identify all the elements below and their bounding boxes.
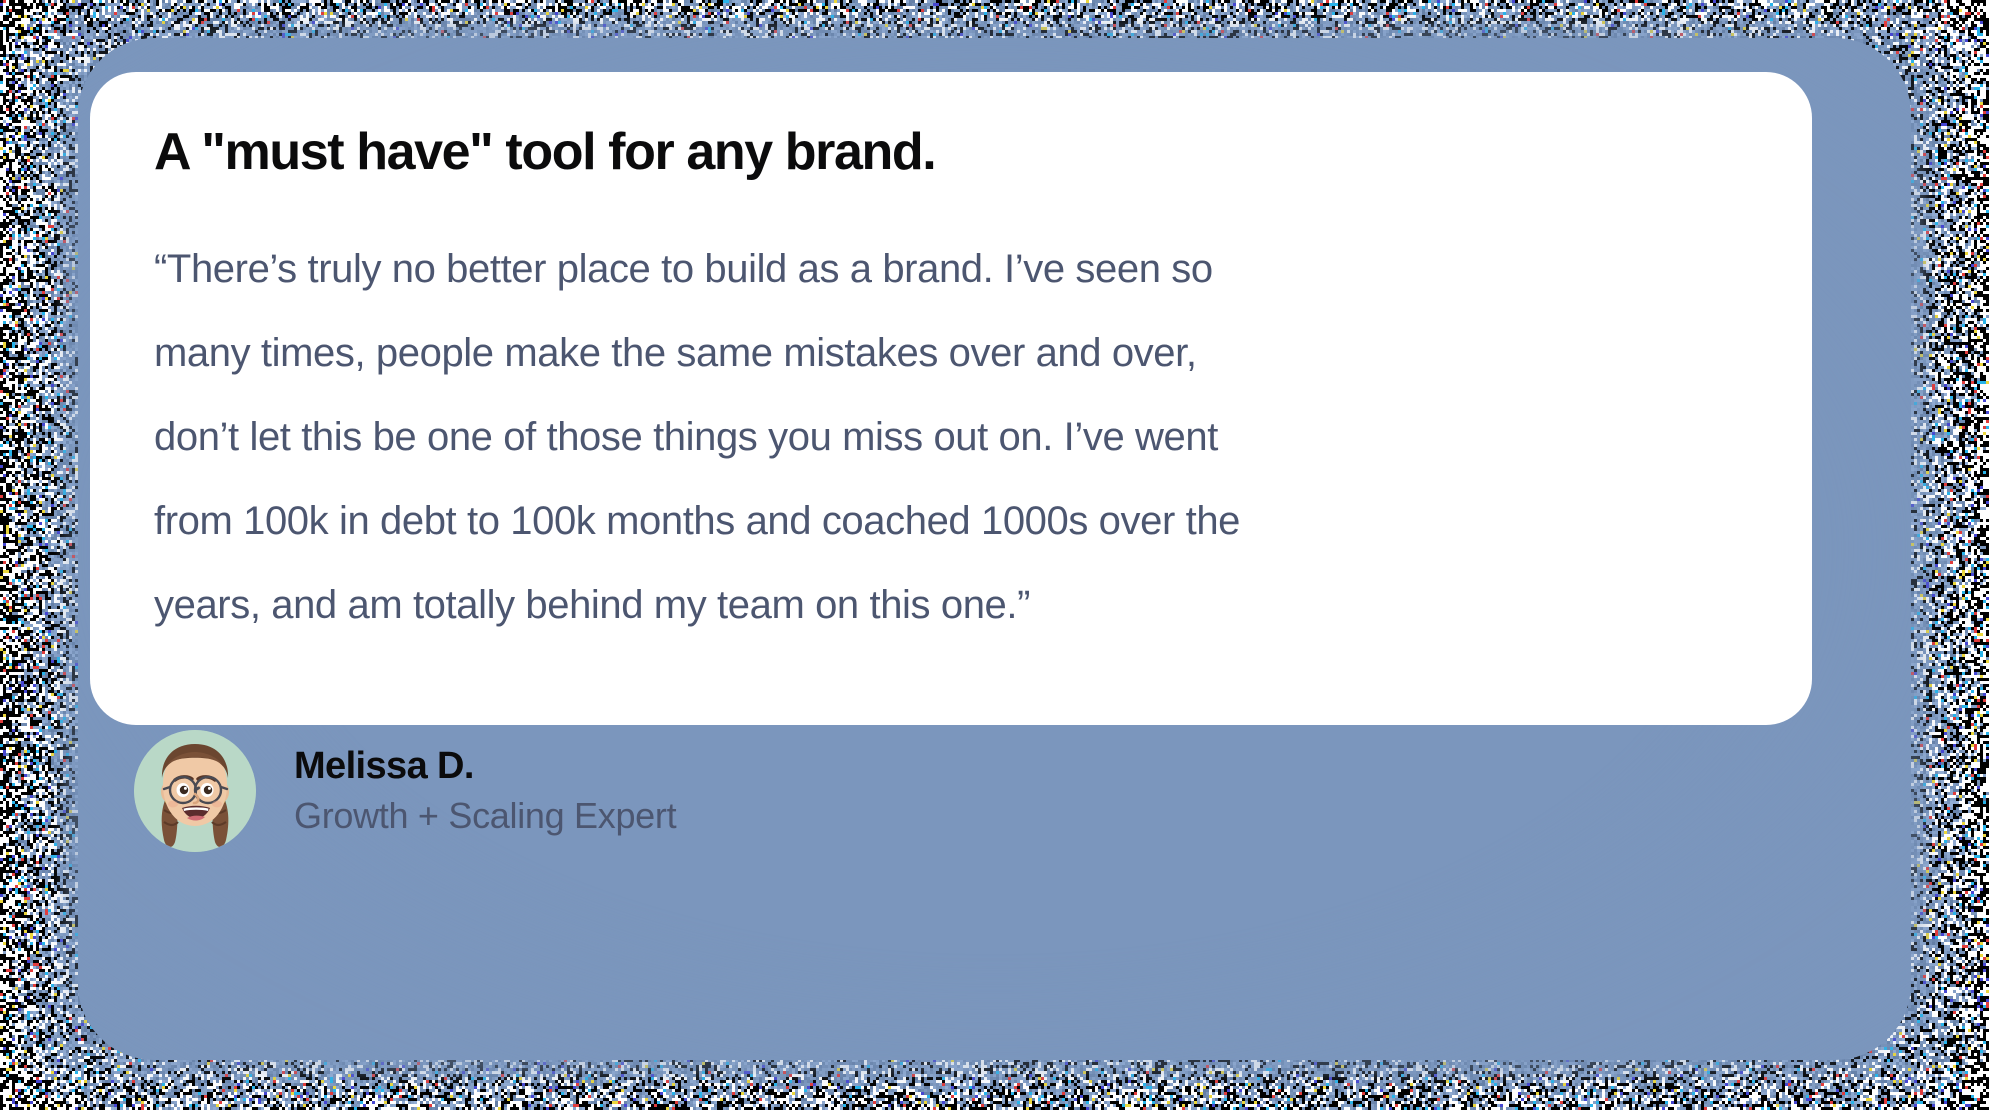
card-headline: A "must have" tool for any brand. (154, 124, 1748, 181)
author-attribution: Melissa D. Growth + Scaling Expert (134, 730, 676, 852)
testimonial-card: A "must have" tool for any brand. “There… (90, 72, 1812, 725)
author-text-block: Melissa D. Growth + Scaling Expert (294, 744, 676, 839)
author-role: Growth + Scaling Expert (294, 793, 676, 838)
quote-line: “There’s truly no better place to build … (154, 227, 1344, 311)
quote-text: “There’s truly no better place to build … (154, 227, 1344, 647)
quote-line: years, and am totally behind my team on … (154, 563, 1344, 647)
quote-line: from 100k in debt to 100k months and coa… (154, 479, 1344, 563)
memoji-woman-glasses-braids-avatar (134, 730, 256, 852)
author-name: Melissa D. (294, 744, 676, 790)
quote-line: don’t let this be one of those things yo… (154, 395, 1344, 479)
quote-line: many times, people make the same mistake… (154, 311, 1344, 395)
